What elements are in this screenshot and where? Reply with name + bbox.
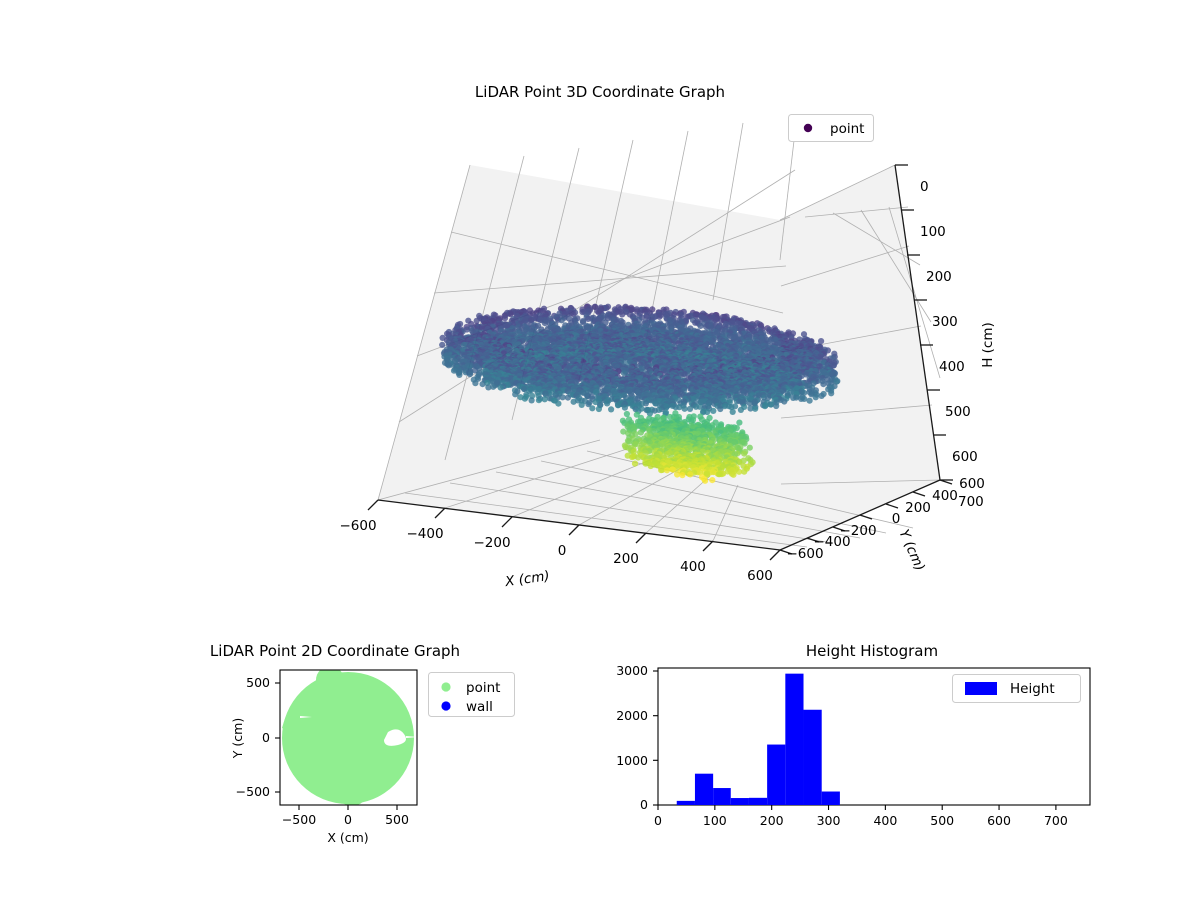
x-tick-label: 600 (747, 568, 773, 584)
y-tick-label: 0 (892, 511, 901, 527)
histogram-bar (785, 674, 803, 805)
z-tick-label: 600 (952, 449, 978, 465)
z-tick-label: 400 (939, 359, 965, 375)
matplotlib-figure: −600 −400 −200 0 200 400 600 X (cm) (0, 0, 1200, 900)
legend-label-point: point (466, 680, 500, 696)
y-tick-label: −500 (236, 784, 270, 799)
histogram-y-ticks (653, 671, 658, 805)
y-tick-label: 600 (959, 476, 985, 492)
x-axis-label: X (cm) (327, 830, 368, 845)
histogram-bar (713, 788, 731, 805)
lidar-3d-axes: −600 −400 −200 0 200 400 600 X (cm) (300, 60, 1000, 640)
z-tick-label: 100 (920, 224, 946, 240)
x-tick-label: 500 (930, 813, 954, 828)
y-tick-label: 0 (262, 730, 270, 745)
x-tick-label: 400 (680, 559, 706, 575)
histogram-legend[interactable]: Height (953, 675, 1081, 703)
y-tick-label: 1000 (616, 753, 648, 768)
x-axis-label: X (cm) (503, 568, 550, 590)
histogram-bar (731, 798, 749, 805)
y-tick-label: 400 (932, 488, 958, 504)
x-tick-label: 500 (385, 812, 409, 827)
plot2d-x-ticks (299, 805, 397, 810)
legend-patch-height (965, 682, 997, 695)
x-tick-label: 300 (817, 813, 841, 828)
y-axis-label: Y (cm) (895, 527, 927, 573)
legend-label-height: Height (1010, 681, 1055, 697)
legend-marker-point (441, 682, 450, 691)
x-tick-label: 600 (987, 813, 1011, 828)
y-tick-label: −600 (786, 546, 823, 562)
plot3d-legend[interactable]: point (788, 114, 874, 142)
y-tick-label: 2000 (616, 708, 648, 723)
y-tick-label: 500 (246, 675, 270, 690)
legend-marker-wall (441, 701, 450, 710)
x-tick-label: −600 (339, 518, 376, 534)
y-tick-label: 200 (905, 500, 931, 516)
legend-marker-point (804, 124, 812, 132)
histogram-bars (677, 674, 840, 805)
z-tick-label: 500 (945, 404, 971, 420)
x-tick-label: 200 (760, 813, 784, 828)
plot3d-title: LiDAR Point 3D Coordinate Graph (475, 83, 725, 101)
histogram-bar (677, 801, 695, 805)
y-tick-label: 3000 (616, 663, 648, 678)
x-tick-label: 0 (654, 813, 662, 828)
x-tick-label: 100 (703, 813, 727, 828)
plot2d-y-ticks (275, 683, 280, 792)
legend-label-wall: wall (466, 699, 493, 715)
histogram-bar (695, 774, 713, 805)
plot2d-title: LiDAR Point 2D Coordinate Graph (210, 642, 460, 660)
pointcloud-2d (282, 666, 418, 806)
histogram-bar (804, 710, 822, 805)
y-axis-label: Y (cm) (230, 718, 245, 759)
x-tick-label: 700 (1044, 813, 1068, 828)
lidar-2d-axes: LiDAR Point 2D Coordinate Graph 500 (180, 640, 540, 870)
x-tick-label: −500 (282, 812, 316, 827)
y-tick-label: 0 (640, 797, 648, 812)
histogram-bar (749, 798, 767, 805)
histogram-bar (767, 745, 785, 805)
z-tick-label: 200 (926, 269, 952, 285)
plot2d-legend[interactable]: point wall (429, 673, 515, 717)
x-tick-label: 200 (613, 551, 639, 567)
z-tick-label: 0 (920, 179, 929, 195)
histogram-x-ticks (658, 805, 1056, 810)
histogram-bar (822, 792, 840, 805)
x-tick-label: 400 (873, 813, 897, 828)
z-axis-label: H (cm) (980, 322, 996, 368)
x-tick-label: −400 (406, 526, 443, 542)
x-tick-label: 0 (558, 543, 567, 559)
x-tick-label: −200 (473, 535, 510, 551)
histogram-title: Height Histogram (806, 642, 938, 660)
height-histogram-axes: Height Histogram 0 1000 2000 3000 010020… (600, 640, 1120, 870)
legend-label-point: point (830, 121, 864, 137)
z-tick-label: 300 (932, 314, 958, 330)
z-tick-label: 700 (958, 494, 984, 510)
x-tick-label: 0 (344, 812, 352, 827)
